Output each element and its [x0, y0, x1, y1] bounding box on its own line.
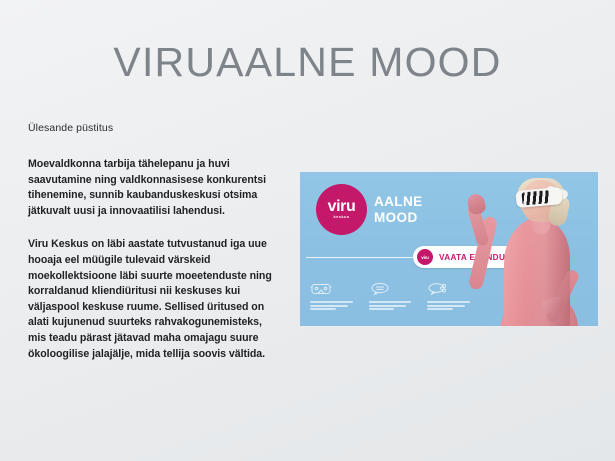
campaign-title-line1: AALNE — [374, 194, 423, 210]
body-paragraph-2: Viru Keskus on läbi aastate tutvustanud … — [28, 237, 280, 362]
model-shading — [504, 218, 570, 326]
viru-keskus-logo-icon: viru keskus — [316, 184, 367, 235]
page-title: VIRUAALNE MOOD — [0, 38, 615, 86]
text-column: Ülesande püstitus Moevaldkonna tarbija t… — [28, 121, 280, 362]
cta-badge-label: viru — [421, 255, 428, 260]
feature-item: Vaata virtuaalset 360 kraadi ruumi etend… — [310, 280, 353, 312]
campaign-banner-image: viru keskus AALNE MOOD viru VAATA ETENDU… — [300, 172, 598, 326]
model-figure — [460, 172, 598, 326]
campaign-title: AALNE MOOD — [374, 194, 423, 225]
feature-caption-lines — [369, 301, 412, 310]
vr-headset-icon — [310, 280, 353, 297]
vr-goggles-lens — [521, 190, 550, 205]
cta-logo-icon: viru — [417, 249, 433, 265]
campaign-title-line2: MOOD — [374, 210, 423, 226]
feature-caption-lines — [310, 301, 353, 310]
speech-bubble-icon — [369, 280, 412, 297]
logo-wordmark: viru — [328, 199, 356, 214]
section-heading: Ülesande püstitus — [28, 121, 280, 136]
brand-logo-lockup: viru keskus AALNE MOOD — [316, 184, 423, 235]
feature-item: Jälgi moeetendust Viru Keskuse Lavalt In… — [369, 280, 412, 312]
presentation-slide: VIRUAALNE MOOD Ülesande püstitus Moevald… — [0, 0, 615, 461]
logo-subtitle: keskus — [334, 214, 350, 220]
body-paragraph-1: Moevaldkonna tarbija tähelepanu ja huvi … — [28, 157, 280, 219]
feature-row: Vaata virtuaalset 360 kraadi ruumi etend… — [310, 280, 470, 312]
